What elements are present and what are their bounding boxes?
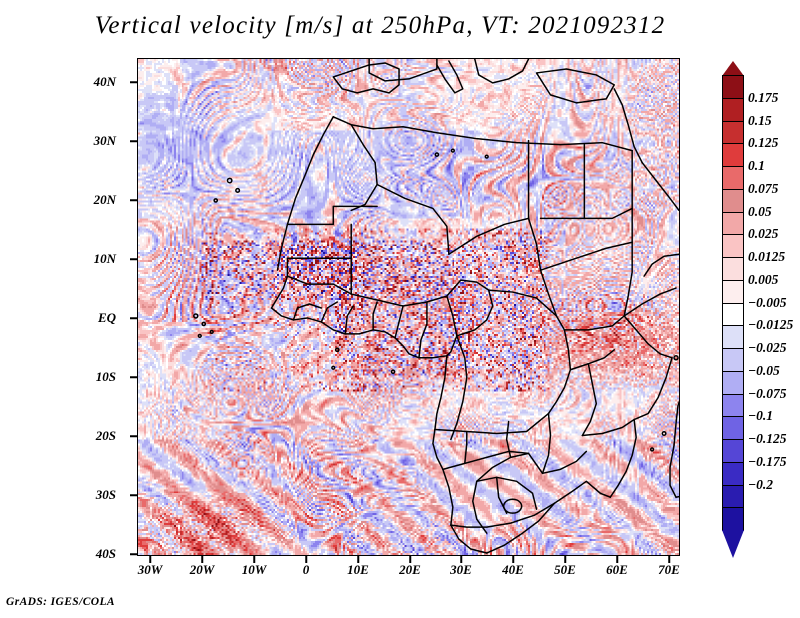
y-axis-label: 40S [96,546,116,562]
colorbar-segment [722,485,744,509]
colorbar-segment [722,143,744,167]
colorbar-tick-label: 0.15 [748,113,772,129]
y-axis-tick [130,494,137,496]
x-axis-label: 20E [399,562,421,578]
colorbar-segment [722,212,744,236]
colorbar-segment [722,439,744,463]
x-axis-label: 0 [303,562,310,578]
colorbar-segment [722,371,744,395]
x-axis-tick [357,556,359,563]
colorbar-tick-label: −0.175 [748,454,787,470]
y-axis-tick [130,376,137,378]
y-axis-tick [130,199,137,201]
colorbar-tick-label: 0.1 [748,158,765,174]
colorbar-segment [722,280,744,304]
colorbar-tick-label: −0.0125 [748,317,793,333]
country-borders-overlay [138,59,679,555]
y-axis-label: 10S [96,369,116,385]
x-axis-tick [201,556,203,563]
map-plot-area [137,58,680,556]
y-axis-label: 20N [94,192,116,208]
x-axis-label: 10W [242,562,267,578]
y-axis-tick [130,553,137,555]
colorbar-segment [722,325,744,349]
y-axis-label: EQ [98,310,116,326]
x-axis-tick [460,556,462,563]
x-axis-tick [564,556,566,563]
x-axis-label: 40E [502,562,524,578]
colorbar-tick-label: −0.2 [748,477,773,493]
colorbar-tick-label: −0.1 [748,408,773,424]
colorbar-tick-label: 0.075 [748,181,778,197]
colorbar-tick-label: −0.075 [748,386,787,402]
y-axis-tick [130,317,137,319]
x-axis-label: 30W [138,562,163,578]
x-axis-label: 50E [554,562,576,578]
colorbar-tick-label: 0.025 [748,226,778,242]
x-axis-tick [253,556,255,563]
colorbar-tick-label: 0.05 [748,204,772,220]
y-axis-label: 10N [94,251,116,267]
x-axis-label: 20W [190,562,215,578]
x-axis-tick [409,556,411,563]
y-axis-label: 20S [96,428,116,444]
colorbar-tick-label: 0.0125 [748,249,785,265]
colorbar-segment [722,348,744,372]
colorbar-segment [722,166,744,190]
x-axis-label: 70E [658,562,680,578]
x-axis-tick [668,556,670,563]
y-axis-tick [130,81,137,83]
page-title: Vertical velocity [m/s] at 250hPa, VT: 2… [0,12,760,40]
x-axis-label: 60E [606,562,628,578]
colorbar-tick-label: −0.025 [748,340,787,356]
colorbar-segment [722,462,744,486]
y-axis-label: 30S [96,487,116,503]
colorbar-tick-label: −0.125 [748,431,787,447]
colorbar-bottom-arrow [722,530,744,558]
y-axis-tick [130,258,137,260]
colorbar-segment [722,189,744,213]
colorbar-segment [722,394,744,418]
footer-credit: GrADS: IGES/COLA [6,596,115,608]
x-axis-tick [305,556,307,563]
colorbar-tick-label: 0.005 [748,272,778,288]
colorbar-segment [722,75,744,99]
y-axis-tick [130,435,137,437]
colorbar-segment [722,257,744,281]
colorbar-top-arrow [722,61,744,76]
x-axis-tick [616,556,618,563]
colorbar-segment [722,507,744,531]
y-axis-label: 40N [94,74,116,90]
colorbar-tick-label: 0.175 [748,90,778,106]
colorbar-segment [722,121,744,145]
x-axis-tick [512,556,514,563]
x-axis-tick [149,556,151,563]
colorbar-tick-label: −0.05 [748,363,780,379]
y-axis-tick [130,140,137,142]
colorbar-tick-label: 0.125 [748,135,778,151]
y-axis-label: 30N [94,133,116,149]
colorbar-segment [722,98,744,122]
x-axis-label: 10E [347,562,369,578]
x-axis-label: 30E [450,562,472,578]
colorbar-segment [722,303,744,327]
colorbar-tick-label: −0.005 [748,295,787,311]
colorbar-segment [722,416,744,440]
colorbar-segment [722,234,744,258]
colorbar [722,75,744,530]
